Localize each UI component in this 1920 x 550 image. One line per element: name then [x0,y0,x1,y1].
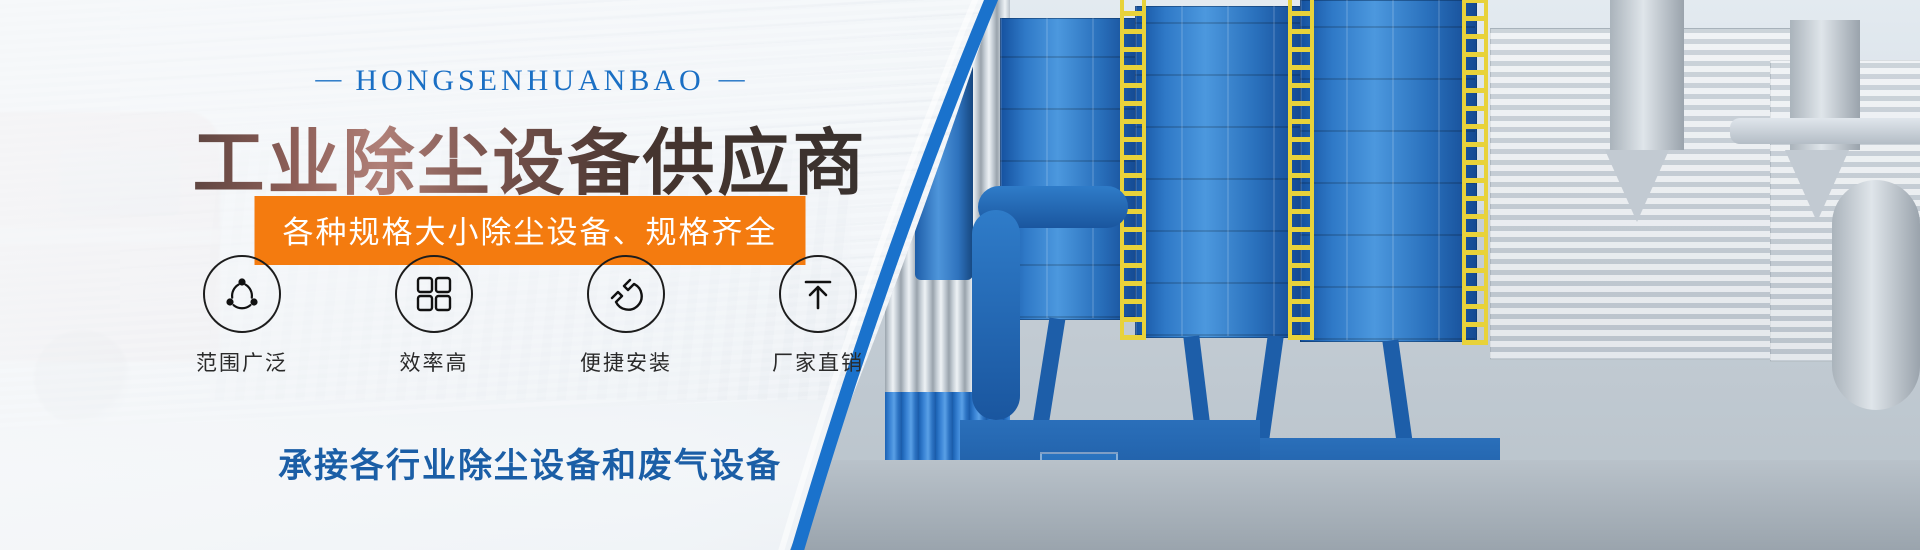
banner-content: —HONGSENHUANBAO— 工业除尘设备供应商 各种规格大小除尘设备、规格… [0,0,1060,550]
feature-label-range: 范围广泛 [196,347,288,377]
page-title: 工业除尘设备供应商 [0,104,1060,209]
photo-ladder-3 [1462,0,1488,345]
photo-baghouse-grid-2 [1135,6,1300,336]
feature-label-install: 便捷安装 [580,347,672,377]
wrench-circle-icon [587,255,665,333]
four-squares-grid-icon [395,255,473,333]
photo-cyclone-cone [1605,150,1669,222]
feature-item-install[interactable]: 便捷安装 [552,255,700,377]
feature-item-range[interactable]: 范围广泛 [168,255,316,377]
photo-cyclone-body [1610,0,1684,150]
feature-item-efficiency[interactable]: 效率高 [360,255,508,377]
eyebrow-dash-left: — [315,64,341,94]
photo-support-leg-4 [1382,339,1413,450]
feature-list: 范围广泛 效率高 [0,255,1060,377]
tagline-text: 承接各行业除尘设备和废气设备 [0,438,1060,487]
feature-label-efficiency: 效率高 [400,347,469,377]
photo-horizontal-pipe [1730,118,1920,144]
eyebrow-dash-right: — [719,64,745,94]
feature-item-factory-direct[interactable]: 厂家直销 [744,255,892,377]
up-arrow-bar-icon [779,255,857,333]
photo-baghouse-grid-3 [1300,0,1475,340]
photo-steel-tank [1832,180,1920,410]
photo-ladder-2 [1288,0,1314,340]
network-nodes-icon [203,255,281,333]
photo-ladder-1 [1120,0,1146,340]
eyebrow-label: HONGSENHUANBAO [355,64,704,97]
eyebrow-text: —HONGSENHUANBAO— [0,64,1060,98]
feature-label-factory-direct: 厂家直销 [772,347,864,377]
hero-banner: —HONGSENHUANBAO— 工业除尘设备供应商 各种规格大小除尘设备、规格… [0,0,1920,550]
